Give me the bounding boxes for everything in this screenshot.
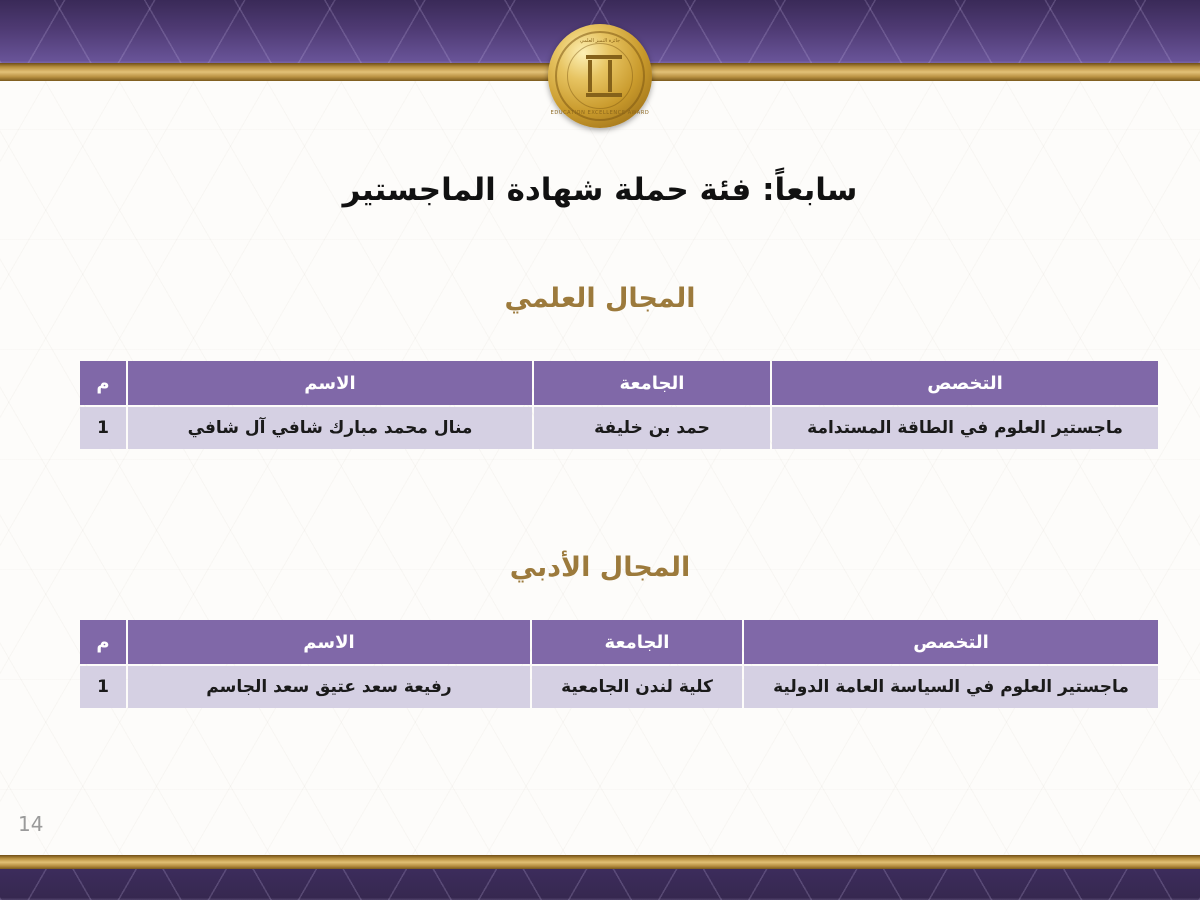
section-heading-literary: المجال الأدبي xyxy=(0,552,1200,583)
table-row: ماجستير العلوم في السياسة العامة الدولية… xyxy=(80,666,1158,708)
column-header-specialization: التخصص xyxy=(744,620,1158,664)
table-row: ماجستير العلوم في الطاقة المستدامة حمد ب… xyxy=(80,407,1158,449)
page-number: 14 xyxy=(18,812,43,836)
column-header-name: الاسم xyxy=(128,620,530,664)
cell-university: كلية لندن الجامعية xyxy=(532,666,742,708)
column-header-index: م xyxy=(80,620,126,664)
cell-name: رفيعة سعد عتيق سعد الجاسم xyxy=(128,666,530,708)
medal-arabic-label: جائزة التميز العلمي xyxy=(548,38,652,44)
winners-table-literary: التخصص الجامعة الاسم م ماجستير العلوم في… xyxy=(78,618,1160,710)
cell-specialization: ماجستير العلوم في الطاقة المستدامة xyxy=(772,407,1158,449)
medal-column-emblem-icon xyxy=(588,60,612,92)
section-heading-scientific: المجال العلمي xyxy=(0,283,1200,314)
table-header-row: التخصص الجامعة الاسم م xyxy=(80,620,1158,664)
column-header-name: الاسم xyxy=(128,361,532,405)
cell-name: منال محمد مبارك شافي آل شافي xyxy=(128,407,532,449)
bottom-gold-divider-bar xyxy=(0,855,1200,869)
table-header-row: التخصص الجامعة الاسم م xyxy=(80,361,1158,405)
cell-index: 1 xyxy=(80,407,126,449)
column-header-index: م xyxy=(80,361,126,405)
cell-university: حمد بن خليفة xyxy=(534,407,770,449)
column-header-university: الجامعة xyxy=(532,620,742,664)
islamic-geometric-pattern xyxy=(0,869,1200,900)
medal-english-label: EDUCATION EXCELLENCE AWARD xyxy=(548,110,652,116)
bottom-purple-band xyxy=(0,869,1200,900)
cell-specialization: ماجستير العلوم في السياسة العامة الدولية xyxy=(744,666,1158,708)
winners-table-scientific: التخصص الجامعة الاسم م ماجستير العلوم في… xyxy=(78,359,1160,451)
award-medal-icon: جائزة التميز العلمي EDUCATION EXCELLENCE… xyxy=(548,24,652,128)
cell-index: 1 xyxy=(80,666,126,708)
page-title: سابعاً: فئة حملة شهادة الماجستير xyxy=(0,172,1200,208)
presentation-slide: جائزة التميز العلمي EDUCATION EXCELLENCE… xyxy=(0,0,1200,900)
column-header-specialization: التخصص xyxy=(772,361,1158,405)
column-header-university: الجامعة xyxy=(534,361,770,405)
